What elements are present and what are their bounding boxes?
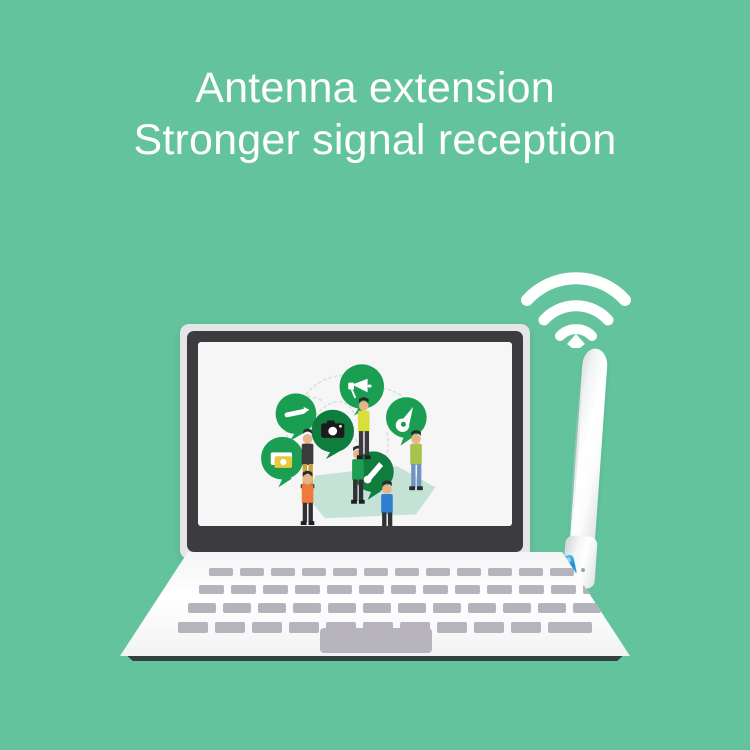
keyboard-key [488, 568, 512, 576]
keyboard-key [426, 568, 450, 576]
headline: Antenna extension Stronger signal recept… [0, 62, 750, 166]
keyboard-key [433, 603, 461, 613]
keyboard-key [391, 585, 416, 594]
laptop-lid [180, 324, 530, 559]
keyboard-key [437, 622, 467, 633]
laptop-keyboard [120, 552, 630, 656]
keyboard-key [263, 585, 288, 594]
keyboard-key [398, 603, 426, 613]
keyboard-key [328, 603, 356, 613]
person-orange-top [301, 471, 315, 525]
keyboard-key [548, 622, 592, 633]
laptop-trackpad [320, 628, 432, 653]
keyboard-key [215, 622, 245, 633]
keyboard-key [511, 622, 541, 633]
keyboard-key [178, 622, 208, 633]
keyboard-key [519, 568, 543, 576]
keyboard-key [188, 603, 216, 613]
keyboard-key [503, 603, 531, 613]
keyboard-key [457, 568, 481, 576]
keyboard-key [550, 568, 574, 576]
keyboard-key [302, 568, 326, 576]
keyboard-key [240, 568, 264, 576]
keyboard-key [223, 603, 251, 613]
keyboard-key [293, 603, 321, 613]
keyboard-key [519, 585, 544, 594]
keyboard-key [295, 585, 320, 594]
keyboard-key [258, 603, 286, 613]
laptop-base [120, 552, 630, 662]
laptop-illustration [120, 324, 630, 694]
keyboard-key [487, 585, 512, 594]
keyboard-key [289, 622, 319, 633]
bubble-pen [276, 393, 317, 440]
laptop-base-top [120, 552, 630, 656]
keyboard-key [468, 603, 496, 613]
keyboard-key [583, 585, 608, 594]
headline-line-1: Antenna extension [0, 62, 750, 114]
keyboard-key [395, 568, 419, 576]
keyboard-key [327, 585, 352, 594]
keyboard-key [573, 603, 601, 613]
promo-image: Antenna extension Stronger signal recept… [0, 0, 750, 750]
people-network-illustration [198, 342, 512, 526]
keyboard-key [364, 568, 388, 576]
keyboard-key [551, 585, 576, 594]
keyboard-key [538, 603, 566, 613]
keyboard-key [363, 603, 391, 613]
keyboard-key [359, 585, 384, 594]
laptop-bezel [187, 331, 523, 552]
person-blue-shirt [381, 480, 393, 526]
bubble-camera [311, 410, 354, 459]
keyboard-key [474, 622, 504, 633]
keyboard-key [455, 585, 480, 594]
keyboard-key [209, 568, 233, 576]
keyboard-key [333, 568, 357, 576]
keyboard-key [252, 622, 282, 633]
keyboard-key [423, 585, 448, 594]
keyboard-key [271, 568, 295, 576]
bubble-money [261, 437, 304, 487]
laptop-screen [198, 342, 512, 526]
headline-line-2: Stronger signal reception [0, 114, 750, 166]
keyboard-key [199, 585, 224, 594]
keyboard-key [231, 585, 256, 594]
